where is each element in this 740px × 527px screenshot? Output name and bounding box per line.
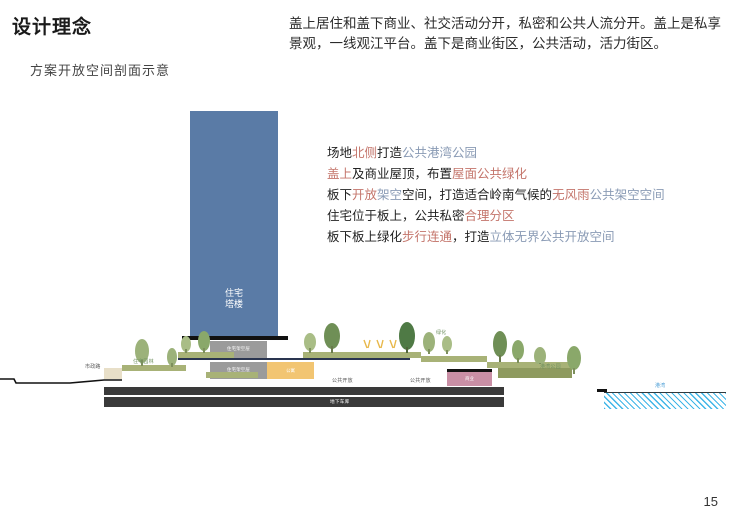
activity-sparkles-icon bbox=[360, 338, 402, 361]
tree-icon bbox=[560, 340, 590, 374]
tower-label: 住宅 塔楼 bbox=[190, 288, 278, 310]
tower-label-line1: 住宅 bbox=[190, 288, 278, 299]
slide-root: 设计理念 方案开放空间剖面示意 盖上居住和盖下商业、社交活动分开，私密和公共人流… bbox=[0, 0, 740, 527]
box-commercial-pink: 商业 bbox=[447, 372, 492, 386]
label-municipal-road: 市政路 bbox=[85, 363, 101, 370]
pink-box-roof bbox=[447, 369, 492, 372]
harbor-edge bbox=[597, 389, 607, 392]
label-residential-garden: 住宅园林 bbox=[133, 358, 154, 365]
garage-band-lower bbox=[104, 397, 504, 407]
harbor-water bbox=[604, 392, 726, 409]
garage-label: 地下车库 bbox=[330, 399, 350, 405]
tree-group-mid-left bbox=[300, 322, 360, 359]
residential-tower: 住宅 塔楼 bbox=[190, 111, 278, 338]
label-public-open-right: 公共开放 bbox=[410, 377, 431, 384]
green-terrace-low bbox=[206, 372, 258, 378]
tree-icon bbox=[178, 328, 226, 354]
label-greening: 绿化 bbox=[436, 329, 446, 336]
tree-group-mid-right bbox=[395, 320, 461, 359]
road-profile-icon bbox=[0, 375, 122, 385]
page-number: 15 bbox=[704, 494, 718, 509]
tree-single-slope bbox=[560, 340, 590, 379]
page-title: 设计理念 bbox=[12, 12, 92, 39]
tree-icon bbox=[395, 320, 461, 354]
tree-group-podium bbox=[178, 328, 226, 359]
tower-label-line2: 塔楼 bbox=[190, 299, 278, 310]
municipal-road bbox=[0, 372, 122, 380]
tree-icon bbox=[300, 322, 360, 354]
page-subtitle: 方案开放空间剖面示意 bbox=[30, 60, 170, 79]
sparkle-icon bbox=[360, 338, 402, 356]
ground-open-band bbox=[104, 379, 504, 387]
box-apartment: 公寓 bbox=[267, 362, 314, 379]
label-public-open-left: 公共开放 bbox=[332, 377, 353, 384]
tree-icon bbox=[488, 328, 558, 364]
label-harbor-park: 港湾公园 bbox=[540, 363, 561, 370]
garage-band-upper bbox=[104, 387, 504, 395]
section-diagram: 住宅 塔楼 住宅架空层 住宅架空层 公寓 公共开放 公共开放 商业 地下车库 bbox=[0, 100, 740, 430]
label-harbor: 港湾 bbox=[655, 382, 665, 389]
intro-paragraph: 盖上居住和盖下商业、社交活动分开，私密和公共人流分开。盖上是私享景观，一线观江平… bbox=[289, 14, 729, 54]
